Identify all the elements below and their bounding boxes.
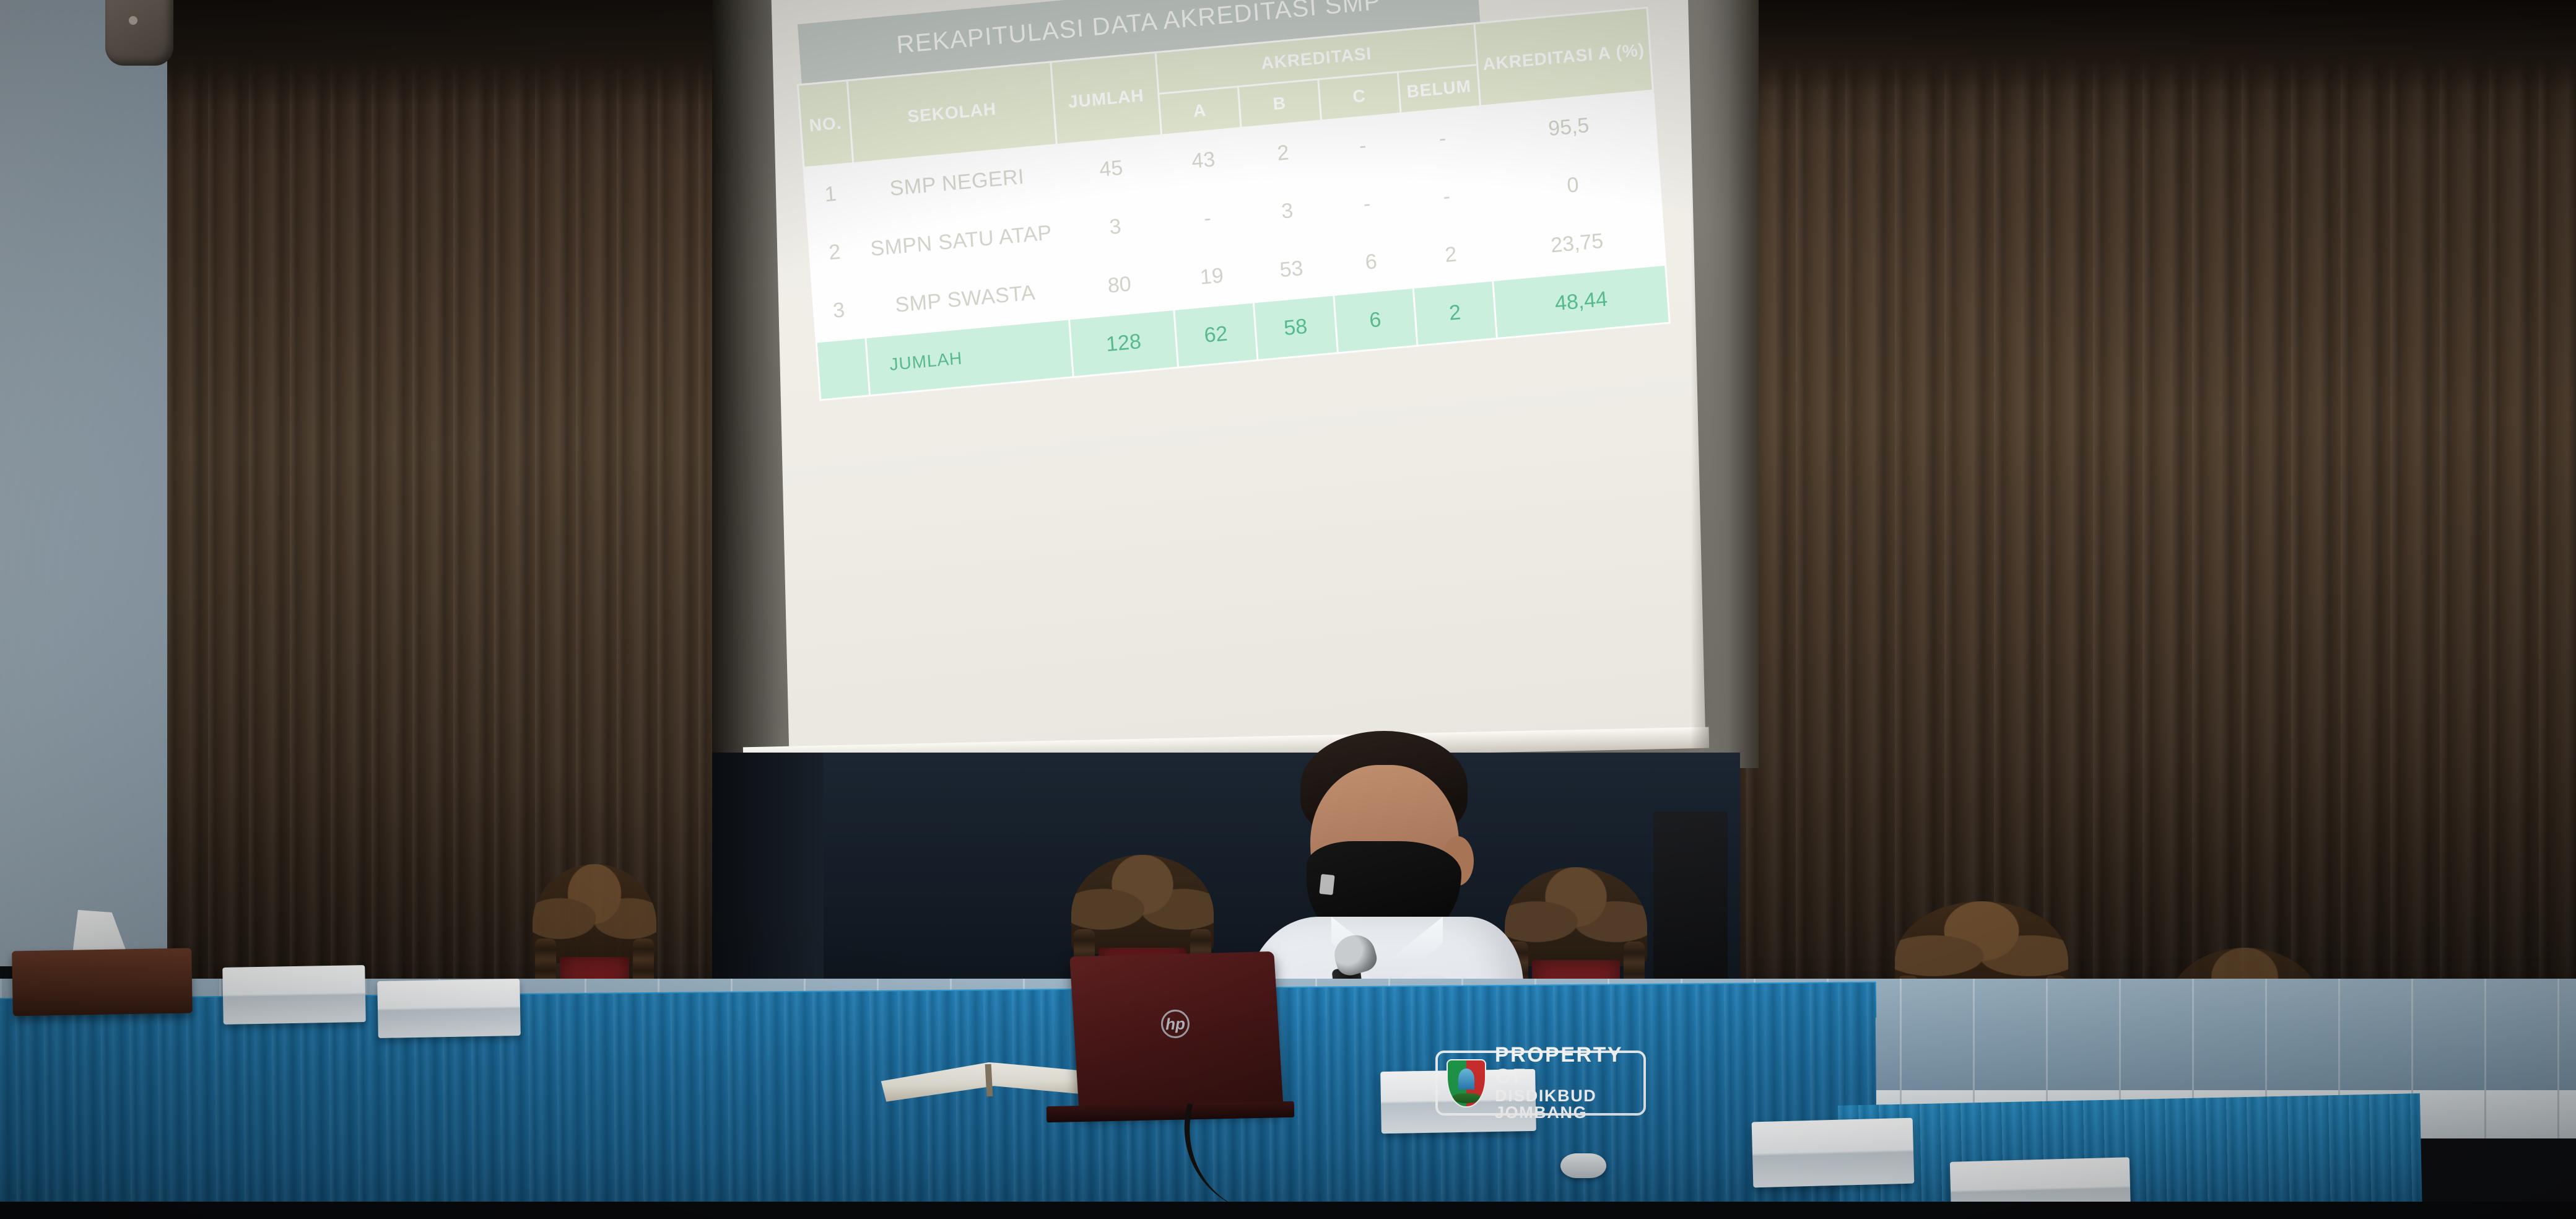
- cell-total-b: 58: [1254, 295, 1338, 360]
- cell-belum: 2: [1409, 222, 1492, 287]
- presentation-room-photo: REKAPITULASI DATA AKREDITASI SMP NO. SEK…: [0, 0, 2576, 1219]
- col-header-belum: BELUM: [1398, 65, 1481, 114]
- col-header-akreditasi-a-persen: AKREDITASI A (%): [1474, 7, 1653, 106]
- col-header-c: C: [1318, 72, 1401, 121]
- cell-belum: -: [1401, 106, 1484, 171]
- cell-total-belum: 2: [1413, 281, 1497, 346]
- presentation-slide: REKAPITULASI DATA AKREDITASI SMP NO. SEK…: [793, 0, 1679, 519]
- right-curtain: [1697, 0, 2576, 991]
- col-header-jumlah: JUMLAH: [1051, 53, 1162, 145]
- cell-a: 43: [1162, 128, 1245, 193]
- face-mask-highlight: [1319, 874, 1334, 895]
- cell-a: 19: [1170, 244, 1253, 309]
- cell-b: 2: [1241, 121, 1325, 186]
- jombang-crest-icon: [1447, 1059, 1486, 1108]
- cell-c: 6: [1329, 230, 1413, 295]
- computer-mouse: [1560, 1153, 1606, 1178]
- watermark-badge: PROPERTY OF DISDIKBUD JOMBANG: [1435, 1051, 1646, 1116]
- curtain-hook-icon: [105, 0, 173, 66]
- wall-right-edge: [1690, 0, 1759, 768]
- cell-c: -: [1321, 113, 1404, 178]
- cell-no: 1: [804, 164, 857, 226]
- cell-no: 2: [808, 221, 861, 284]
- tissue-box: [12, 948, 193, 1016]
- foam-lunch-box: [222, 965, 366, 1025]
- cell-total-empty: [816, 338, 869, 400]
- cell-b: 3: [1245, 179, 1329, 244]
- left-curtain: [167, 0, 774, 991]
- cell-total-jumlah: 128: [1069, 310, 1178, 377]
- col-header-a: A: [1159, 87, 1242, 136]
- watermark-line-1: PROPERTY OF: [1495, 1044, 1635, 1087]
- col-header-no: NO.: [798, 81, 853, 168]
- col-header-b: B: [1238, 79, 1321, 128]
- curtain-top-fold: [1697, 0, 2576, 93]
- cell-a: -: [1165, 186, 1249, 251]
- foam-lunch-box: [1752, 1118, 1915, 1188]
- curtain-top-fold: [167, 0, 774, 105]
- cell-jumlah: 80: [1065, 251, 1174, 319]
- cell-belum: -: [1405, 164, 1489, 229]
- left-wall: [0, 0, 186, 966]
- floor-shadow: [0, 1202, 2576, 1219]
- cell-c: -: [1325, 172, 1409, 237]
- cell-b: 53: [1250, 237, 1333, 302]
- cell-no: 3: [812, 279, 865, 342]
- foam-lunch-box: [377, 979, 521, 1038]
- cell-jumlah: 3: [1061, 193, 1170, 261]
- cell-total-c: 6: [1333, 287, 1417, 352]
- cell-total-a: 62: [1174, 302, 1258, 367]
- watermark-line-2: DISDIKBUD JOMBANG: [1495, 1088, 1635, 1122]
- cell-jumlah: 45: [1056, 135, 1165, 203]
- watermark-text: PROPERTY OF DISDIKBUD JOMBANG: [1495, 1044, 1635, 1121]
